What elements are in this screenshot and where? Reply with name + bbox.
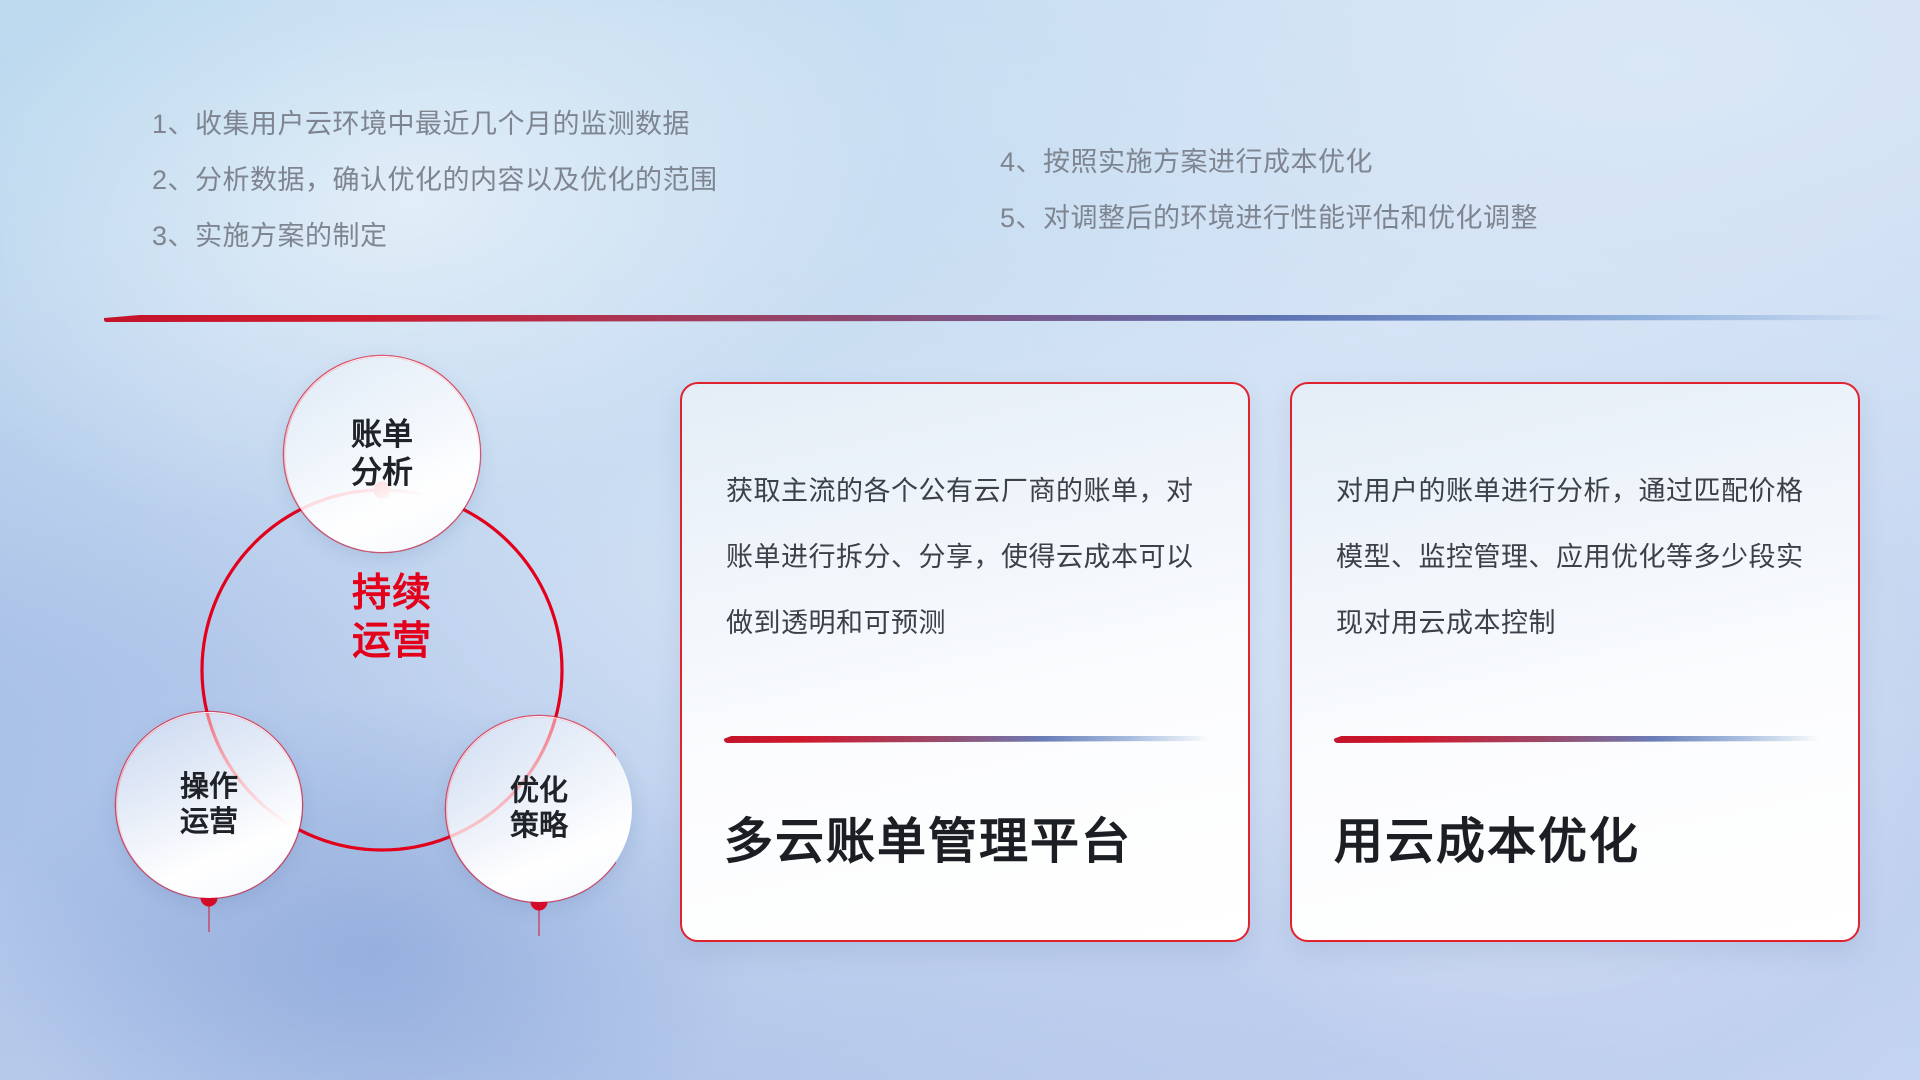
steps-section: 1、收集用户云环境中最近几个月的监测数据 2、分析数据，确认优化的内容以及优化的… — [0, 96, 1920, 286]
node-label-line2: 分析 — [351, 454, 413, 492]
card-divider-rule — [724, 736, 1210, 743]
step-item: 5、对调整后的环境进行性能评估和优化调整 — [1000, 190, 1538, 246]
card-title: 用云成本优化 — [1334, 802, 1828, 873]
node-label-line1: 账单 — [351, 416, 413, 454]
steps-column-right: 4、按照实施方案进行成本优化 5、对调整后的环境进行性能评估和优化调整 — [1000, 134, 1538, 246]
center-label-line1: 持续 — [352, 570, 542, 618]
node-label-line1: 操作 — [180, 770, 238, 805]
continuous-operation-diagram: 账单 分析 操作 运营 优化 策略 持续 运营 — [96, 340, 616, 980]
diagram-center-label: 持续 运营 — [352, 570, 542, 665]
center-label-line2: 运营 — [352, 618, 542, 666]
node-label-line1: 优化 — [510, 774, 568, 809]
diagram-node-bill-analysis[interactable]: 账单 分析 — [284, 356, 480, 552]
card-cloud-cost-optimization[interactable]: 对用户的账单进行分析，通过匹配价格模型、监控管理、应用优化等多少段实现对用云成本… — [1290, 382, 1860, 942]
card-description: 获取主流的各个公有云厂商的账单，对账单进行拆分、分享，使得云成本可以做到透明和可… — [726, 458, 1212, 656]
step-item: 4、按照实施方案进行成本优化 — [1000, 134, 1538, 190]
card-description: 对用户的账单进行分析，通过匹配价格模型、监控管理、应用优化等多少段实现对用云成本… — [1336, 458, 1822, 656]
card-multicloud-billing-platform[interactable]: 获取主流的各个公有云厂商的账单，对账单进行拆分、分享，使得云成本可以做到透明和可… — [680, 382, 1250, 942]
step-item: 1、收集用户云环境中最近几个月的监测数据 — [152, 96, 718, 152]
card-divider-rule — [1334, 736, 1820, 743]
diagram-node-optimization-strategy[interactable]: 优化 策略 — [446, 716, 632, 902]
step-item: 3、实施方案的制定 — [152, 208, 718, 264]
step-item: 2、分析数据，确认优化的内容以及优化的范围 — [152, 152, 718, 208]
diagram-node-operations[interactable]: 操作 运营 — [116, 712, 302, 898]
steps-column-left: 1、收集用户云环境中最近几个月的监测数据 2、分析数据，确认优化的内容以及优化的… — [152, 96, 718, 264]
node-label-line2: 运营 — [180, 805, 238, 840]
card-title: 多云账单管理平台 — [724, 802, 1218, 873]
node-label-line2: 策略 — [510, 809, 568, 844]
